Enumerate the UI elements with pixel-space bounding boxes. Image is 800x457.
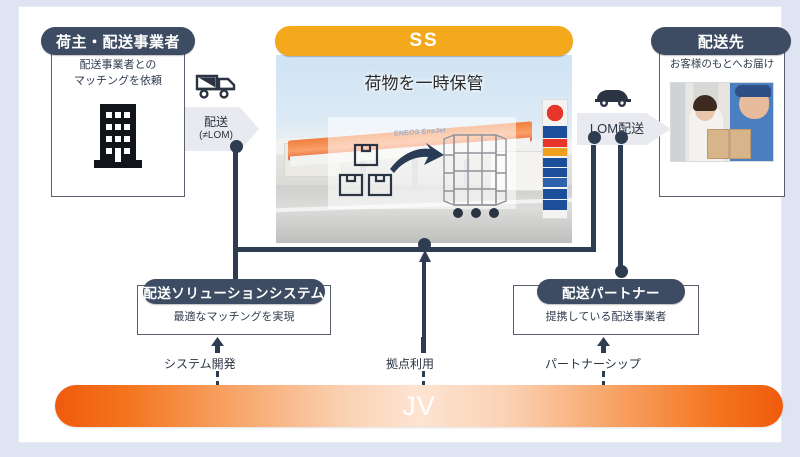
delivery-left-arrow: 配送 (≠LOM) (185, 107, 259, 151)
delivery-left-label-1: 配送 (204, 116, 228, 130)
shipper-panel: 配送事業者との マッチングを依頼 (51, 43, 185, 197)
jv-link-label: 拠点利用 (386, 355, 434, 372)
ss-photo-title: 荷物を一時保管 (276, 69, 572, 94)
diagram-canvas: 荷主・配送事業者 配送事業者との マッチングを依頼 (0, 0, 800, 457)
cage-cart-icon (442, 127, 508, 228)
ss-header-label: SS (409, 30, 438, 52)
shipper-header: 荷主・配送事業者 (41, 27, 195, 55)
destination-caption: お客様のもとへお届け (660, 57, 784, 72)
jv-bar: JV (55, 385, 783, 427)
destination-header-label: 配送先 (698, 31, 745, 52)
connector-dot (615, 131, 628, 144)
connector-up-arrow-icon (419, 250, 431, 269)
connector-dot (615, 265, 628, 278)
ss-price-pylon (542, 99, 568, 219)
partner-header-label: 配送パートナー (562, 282, 660, 302)
partner-caption: 提携している配送事業者 (514, 310, 698, 326)
office-building-icon (92, 98, 144, 177)
ss-photo: ENEOS EneJet (275, 54, 573, 244)
shipper-caption: 配送事業者との マッチングを依頼 (52, 58, 184, 90)
delivery-left-label-2: (≠LOM) (199, 130, 233, 142)
destination-panel: お客様のもとへお届け (659, 43, 785, 197)
shipper-caption-line2: マッチングを依頼 (52, 74, 184, 90)
destination-header: 配送先 (651, 27, 791, 55)
jv-label: JV (55, 385, 783, 427)
shipper-caption-line1: 配送事業者との (52, 58, 184, 74)
solution-header: 配送ソリューションシステム (143, 279, 325, 304)
diagram-card: 荷主・配送事業者 配送事業者との マッチングを依頼 (18, 6, 782, 443)
solution-caption: 最適なマッチングを実現 (138, 310, 330, 326)
jv-link-label: システム開発 (164, 355, 236, 372)
solution-header-label: 配送ソリューションシステム (143, 282, 324, 302)
right-arrow-icon (388, 143, 446, 184)
connector-horizontal (233, 247, 596, 252)
car-icon (593, 85, 633, 114)
connector-dot (588, 131, 601, 144)
shipper-header-label: 荷主・配送事業者 (56, 31, 180, 52)
connector-dot (418, 238, 431, 251)
parcel-box-icon (338, 143, 394, 210)
connector-dot (230, 140, 243, 153)
connector-lom-vertical (591, 138, 596, 250)
partner-header: 配送パートナー (537, 279, 685, 304)
ss-header: SS (275, 26, 573, 56)
connector-shipper-vertical (233, 150, 238, 253)
connector-partner-vertical (618, 138, 623, 271)
truck-icon (195, 73, 239, 106)
jv-link-label: パートナーシップ (545, 355, 641, 372)
delivery-handoff-photo (670, 82, 774, 162)
